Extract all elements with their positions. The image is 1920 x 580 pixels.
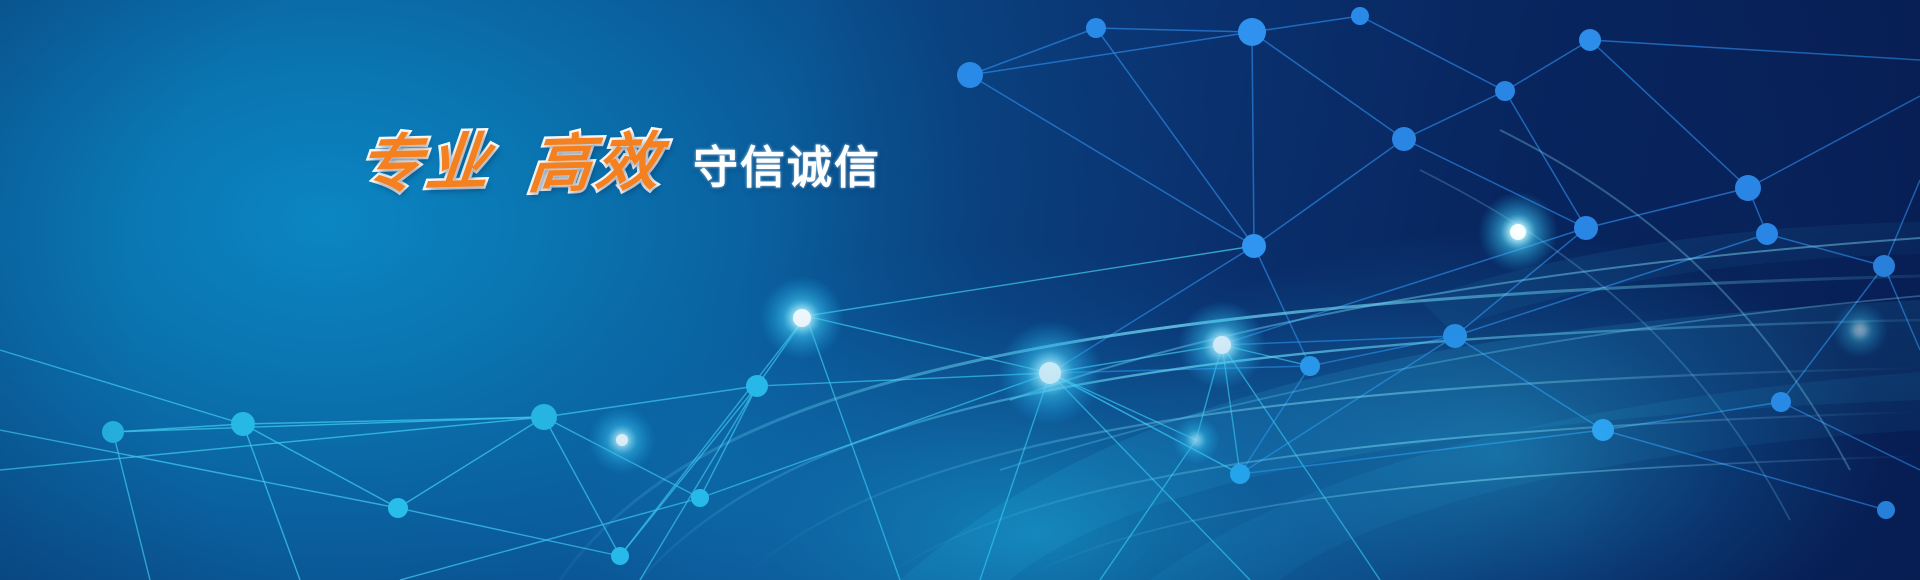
hero-banner: 专业 高效 守信诚信 xyxy=(0,0,1920,580)
background-vignette xyxy=(0,0,1920,580)
